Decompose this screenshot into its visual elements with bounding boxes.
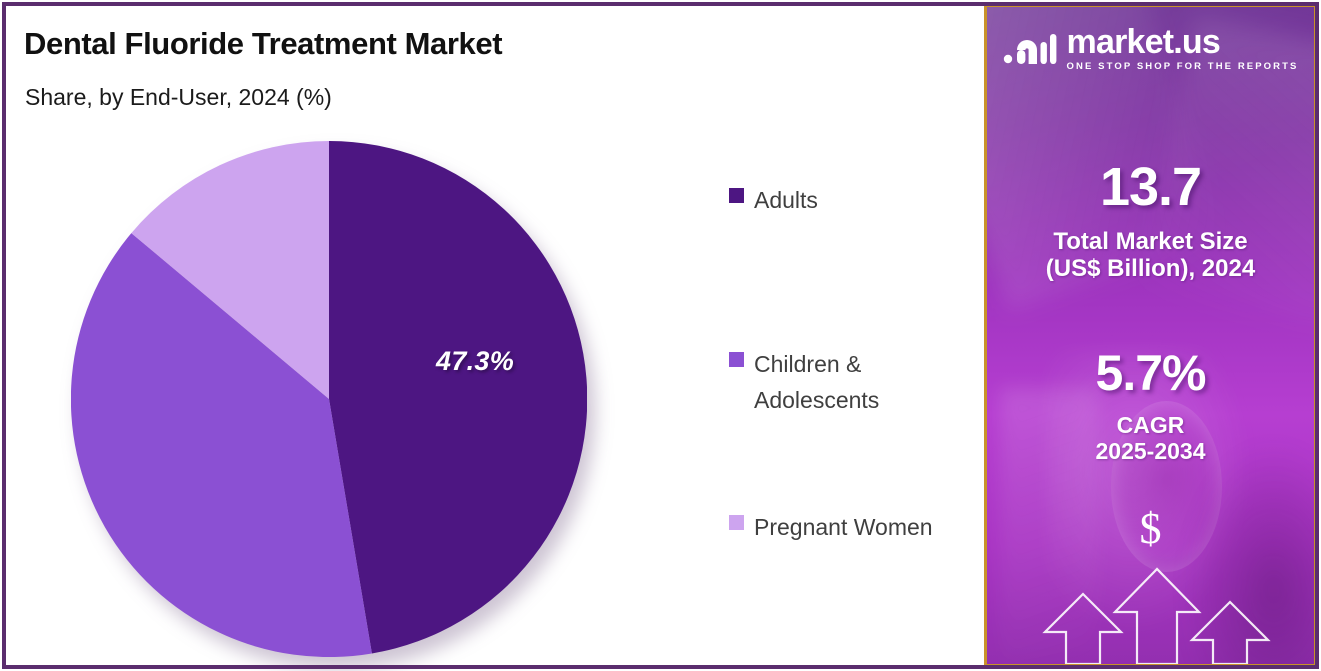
stat-value: 5.7% xyxy=(987,347,1314,400)
pie-data-label-adults: 47.3% xyxy=(436,346,514,377)
pie-svg xyxy=(71,141,587,657)
legend-item-pregnant-women[interactable]: Pregnant Women xyxy=(729,509,933,545)
up-arrow-icon xyxy=(1115,569,1199,664)
pie-slice-adults[interactable] xyxy=(329,141,587,653)
chart-panel: Dental Fluoride Treatment Market Share, … xyxy=(4,4,984,667)
stat-caption: Total Market Size (US$ Billion), 2024 xyxy=(987,228,1314,283)
growth-arrows xyxy=(987,544,1317,664)
legend-item-adults[interactable]: Adults xyxy=(729,182,818,218)
brand-text: market.us ONE STOP SHOP FOR THE REPORTS xyxy=(1067,25,1299,72)
stat-cagr: 5.7% CAGR 2025-2034 xyxy=(987,347,1314,464)
up-arrow-icon xyxy=(1045,594,1121,664)
pie-chart xyxy=(71,141,587,657)
dollar-sign-icon: $ xyxy=(987,507,1314,551)
brand-name: market.us xyxy=(1067,25,1299,59)
legend-swatch-icon xyxy=(729,188,744,203)
stat-value: 13.7 xyxy=(987,159,1314,216)
stat-total-market-size: 13.7 Total Market Size (US$ Billion), 20… xyxy=(987,159,1314,283)
stats-panel: market.us ONE STOP SHOP FOR THE REPORTS … xyxy=(984,4,1317,667)
page-title: Dental Fluoride Treatment Market xyxy=(24,26,502,62)
chart-subtitle: Share, by End-User, 2024 (%) xyxy=(25,84,332,111)
legend-label: Children & Adolescents xyxy=(754,346,879,418)
stat-caption: CAGR 2025-2034 xyxy=(987,412,1314,465)
brand-logo[interactable]: market.us ONE STOP SHOP FOR THE REPORTS xyxy=(987,25,1314,72)
up-arrow-icon xyxy=(1192,602,1268,664)
legend-label: Pregnant Women xyxy=(754,509,933,545)
legend-swatch-icon xyxy=(729,352,744,367)
brand-tagline: ONE STOP SHOP FOR THE REPORTS xyxy=(1067,62,1299,72)
legend-label: Adults xyxy=(754,182,818,218)
legend-item-children-adolescents[interactable]: Children & Adolescents xyxy=(729,346,879,418)
legend-swatch-icon xyxy=(729,515,744,530)
infographic-root: Dental Fluoride Treatment Market Share, … xyxy=(0,0,1321,671)
market-us-logo-icon xyxy=(1003,28,1057,68)
